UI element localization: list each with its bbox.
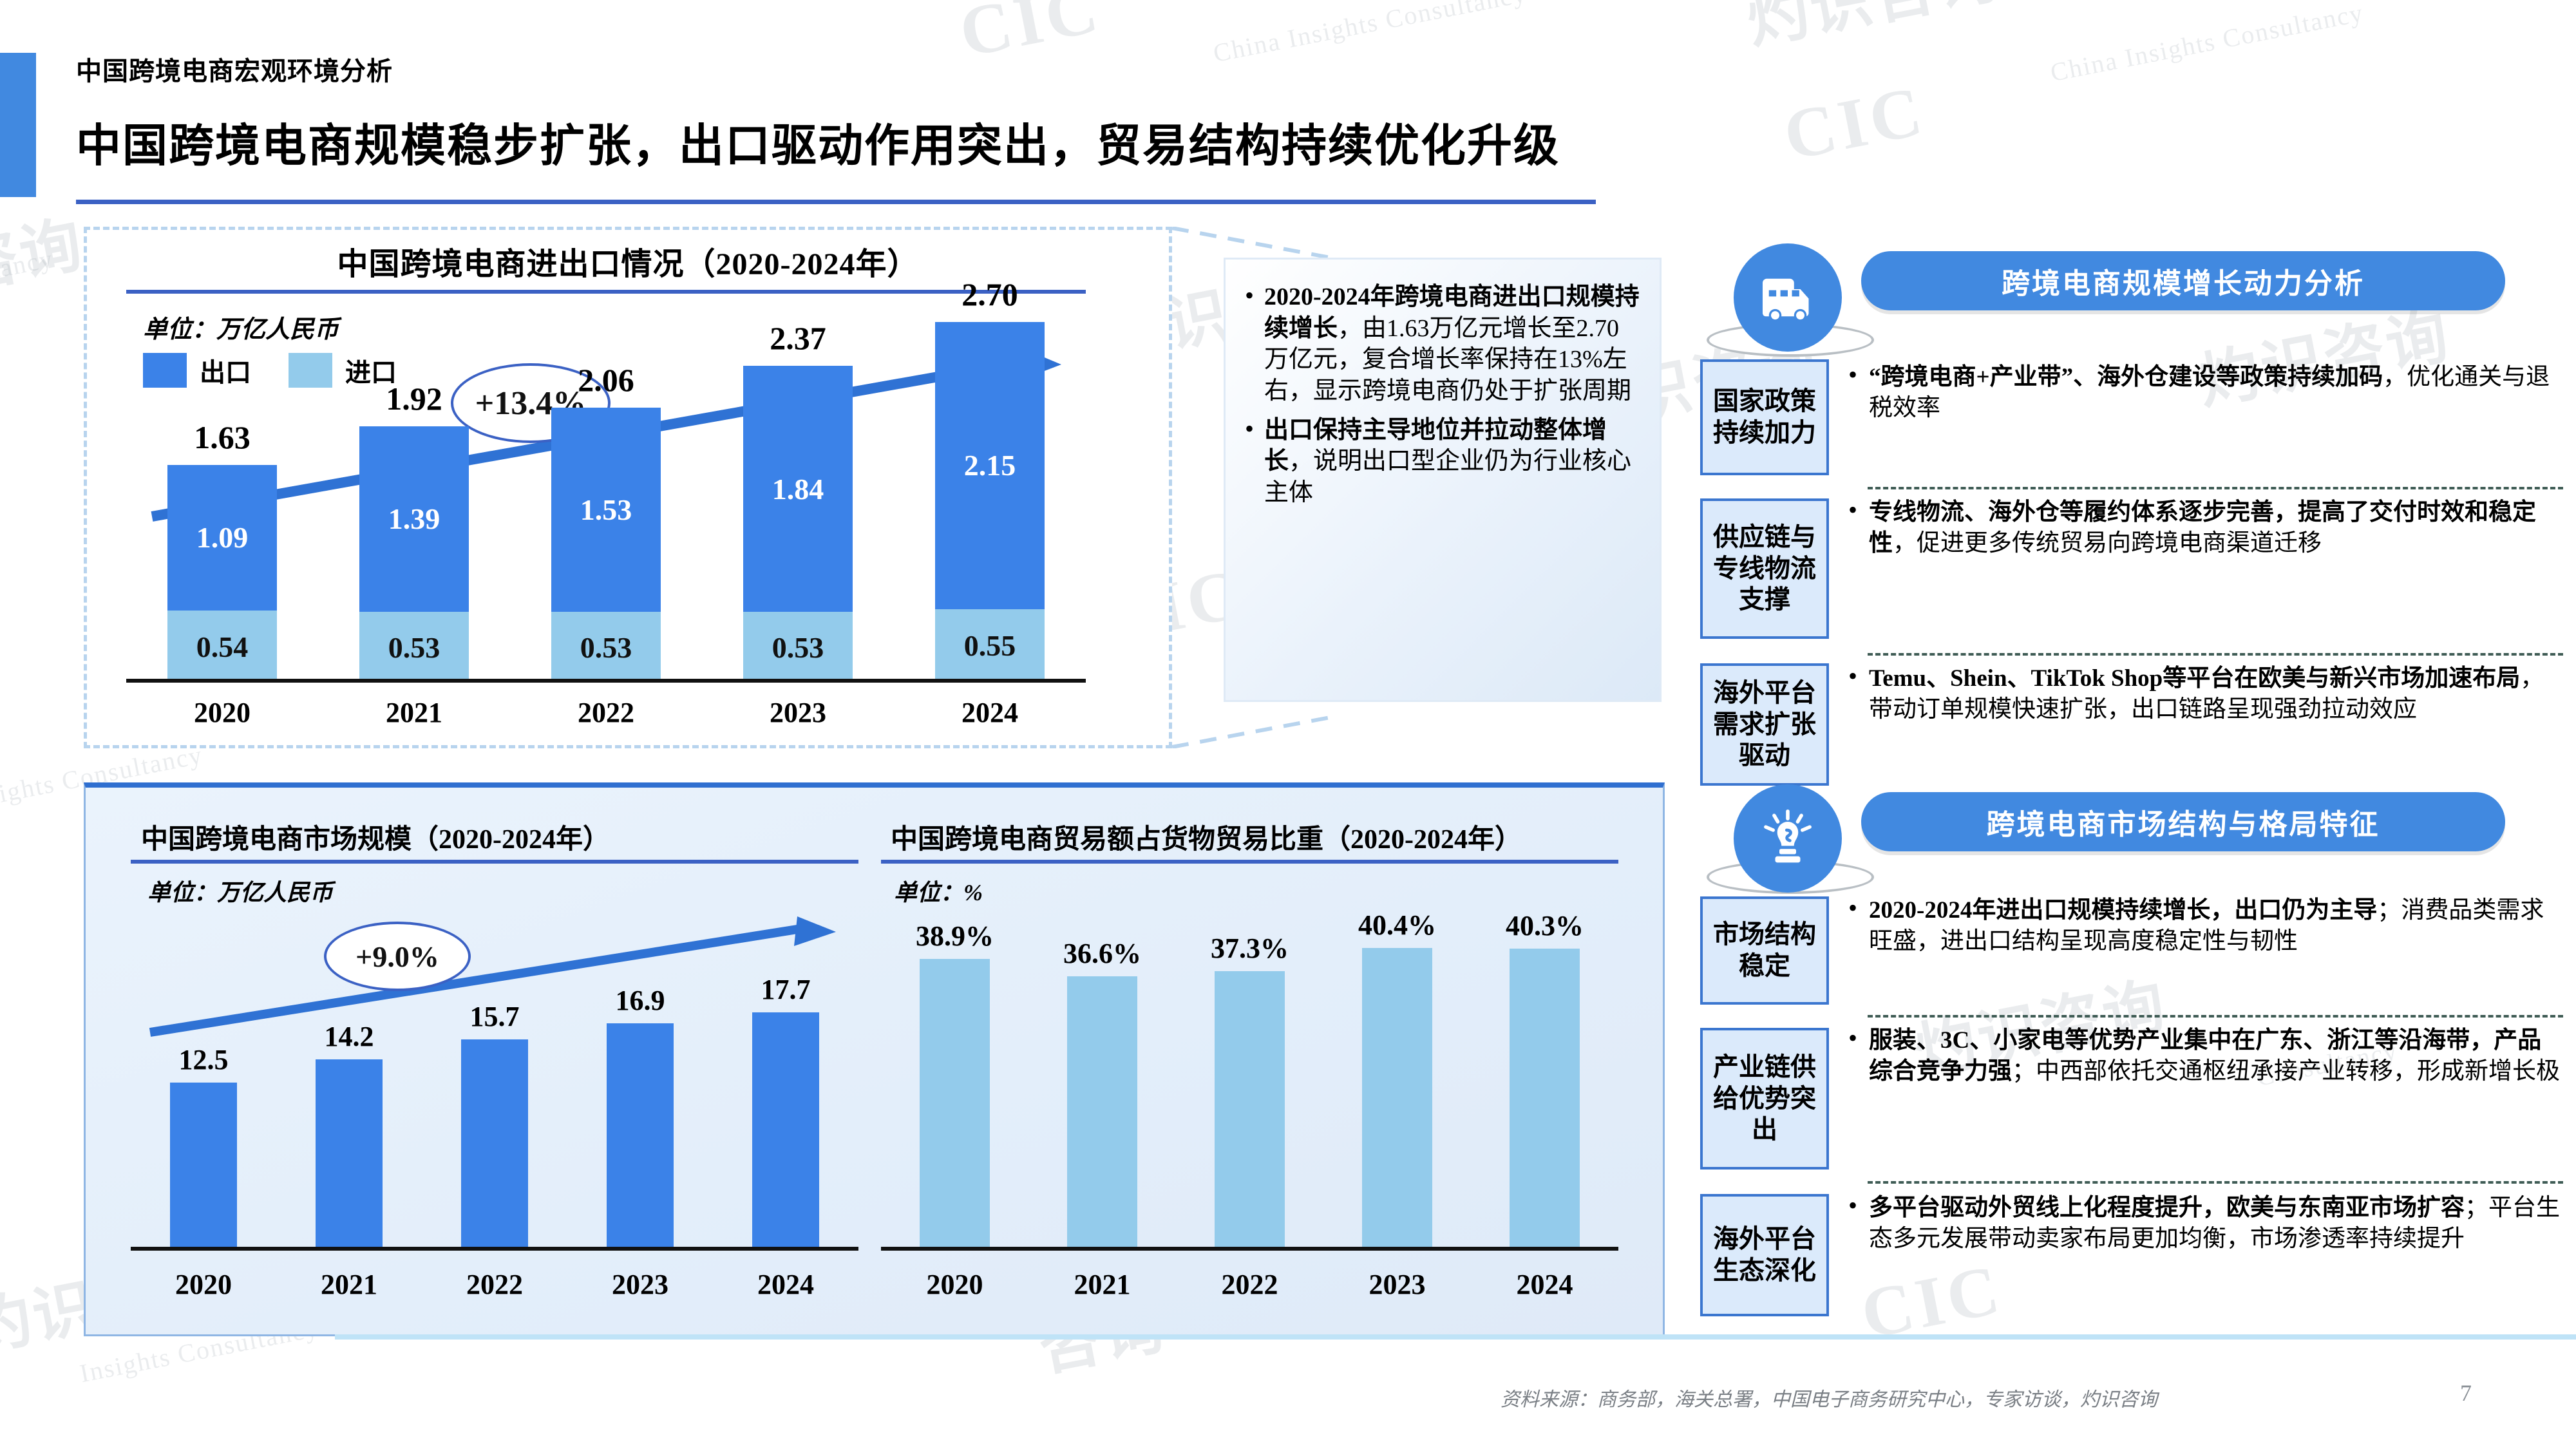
panel-banner-2: 跨境电商市场结构与格局特征 [1861, 792, 2505, 851]
watermark: China Insights Consultancy [1211, 0, 1529, 68]
bar [1215, 971, 1285, 1251]
bar-total-label: 2.06 [551, 361, 661, 399]
bar-segment-import: 0.53 [551, 612, 661, 683]
watermark: CIC [953, 0, 1108, 74]
cagr-label-2: +9.0% [355, 940, 439, 974]
tag-label: 市场结构稳定 [1703, 919, 1826, 982]
analysis-rest: ；中西部依托交通枢纽承接产业转移，形成新增长极 [2012, 1058, 2560, 1084]
x-tick-label: 2024 [1471, 1268, 1618, 1301]
bar-segment-import: 0.54 [167, 611, 277, 683]
chart-title: 中国跨境电商市场规模（2020-2024年） [141, 817, 610, 857]
x-tick-label: 2022 [422, 1268, 567, 1301]
bar-segment-export: 1.09 [167, 465, 277, 611]
insight-bullet: 2020-2024年跨境电商进出口规模持续增长，由1.63万亿元增长至2.70万… [1242, 281, 1643, 407]
chart-x-labels: 20202021202220232024 [881, 1268, 1618, 1301]
x-tick-label: 2022 [510, 696, 702, 729]
bar [607, 1023, 674, 1251]
analysis-text-3: Temu、Shein、TikTok Shop等平台在欧美与新兴市场加速布局，带动… [1869, 663, 2561, 725]
x-tick-label: 2021 [318, 696, 510, 729]
bar-segment-export: 1.39 [359, 426, 469, 612]
panel-banner-label: 跨境电商规模增长动力分析 [2002, 260, 2365, 301]
bar-segment-export: 2.15 [935, 322, 1045, 609]
analysis-text-2: 专线物流、海外仓等履约体系逐步完善，提高了交付时效和稳定性，促进更多传统贸易向跨… [1869, 497, 2561, 559]
tag-label: 供应链与专线物流支撑 [1703, 522, 1826, 616]
page-title: 中国跨境电商规模稳步扩张，出口驱动作用突出，贸易结构持续优化升级 [76, 109, 1560, 175]
x-tick-label: 2021 [276, 1268, 422, 1301]
breadcrumb: 中国跨境电商宏观环境分析 [76, 50, 393, 88]
x-tick-label: 2023 [567, 1268, 713, 1301]
insight-bullet-rest: ，说明出口型企业仍为行业核心主体 [1264, 448, 1631, 506]
cagr-badge-2: +9.0% [324, 922, 471, 991]
chart-x-labels: 20202021202220232024 [126, 696, 1086, 729]
watermark: China Insights Consultancy [2048, 0, 2366, 88]
x-tick-label: 2023 [1323, 1268, 1471, 1301]
tag-box-supplychain[interactable]: 供应链与专线物流支撑 [1700, 498, 1829, 639]
x-tick-label: 2021 [1028, 1268, 1176, 1301]
bar [752, 1012, 819, 1251]
x-tick-label: 2020 [126, 696, 318, 729]
insight-callout: 2020-2024年跨境电商进出口规模持续增长，由1.63万亿元增长至2.70万… [1224, 258, 1662, 702]
bar-total-label: 1.92 [359, 380, 469, 417]
bar-value-label: 36.6% [1050, 937, 1155, 970]
tag-label: 海外平台生态深化 [1703, 1224, 1826, 1287]
analysis-text-4: 2020-2024年进出口规模持续增长，出口仍为主导；消费品类需求旺盛，进出口结… [1869, 895, 2561, 957]
bar-total-label: 2.37 [743, 319, 853, 357]
bar-group: 1.090.54 [167, 465, 277, 683]
bar-total-label: 1.63 [167, 419, 277, 456]
bar-value-label: 15.7 [444, 1000, 545, 1033]
chart-unit-label: 单位：万亿人民币 [147, 874, 333, 907]
analysis-bold: “跨境电商+产业带”、海外仓建设等政策持续加码 [1869, 364, 2383, 390]
bottom-charts-panel: 中国跨境电商市场规模（2020-2024年） 单位：万亿人民币 +9.0% 12… [84, 782, 1665, 1336]
watermark: Consultancy [0, 243, 56, 300]
x-tick-label: 2022 [1176, 1268, 1323, 1301]
tag-label: 产业链供给优势突出 [1703, 1052, 1826, 1146]
analysis-bold: Temu、Shein、TikTok Shop等平台在欧美与新兴市场加速布局 [1869, 665, 2520, 692]
x-tick-label: 2024 [894, 696, 1086, 729]
bar-value-label: 40.3% [1493, 909, 1597, 942]
bar-segment-import: 0.53 [359, 612, 469, 683]
watermark: 咨询 [0, 194, 91, 305]
bar [920, 959, 990, 1251]
bar-value-label: 17.7 [735, 973, 836, 1006]
chart-unit-label: 单位：% [894, 874, 983, 907]
bar-segment-import: 0.53 [743, 612, 853, 683]
bar [1510, 949, 1580, 1251]
header-accent-bar [0, 53, 36, 197]
analysis-divider-1 [1868, 487, 2563, 489]
bar-segment-export: 1.84 [743, 366, 853, 612]
analysis-rest: ，促进更多传统贸易向跨境电商渠道迁移 [1893, 530, 2322, 556]
panel-banner-label: 跨境电商市场结构与格局特征 [1987, 801, 2380, 842]
bar-value-label: 16.9 [590, 984, 690, 1017]
analysis-text-6: 多平台驱动外贸线上化程度提升，欧美与东南亚市场扩容；平台生态多元发展带动卖家布局… [1869, 1193, 2561, 1255]
source-note: 资料来源：商务部，海关总署，中国电子商务研究中心，专家访谈，灼识咨询 [1501, 1383, 2157, 1412]
bar-value-label: 12.5 [153, 1043, 254, 1076]
analysis-bold: 2020-2024年进出口规模持续增长，出口仍为主导 [1869, 897, 2377, 923]
bar-total-label: 2.70 [935, 276, 1045, 313]
bar-group: 2.150.55 [935, 322, 1045, 683]
bar-value-label: 40.4% [1345, 909, 1450, 942]
bar-segment-export: 1.53 [551, 408, 661, 612]
bar-group: 1.840.53 [743, 366, 853, 683]
x-tick-label: 2020 [881, 1268, 1028, 1301]
chart-title: 中国跨境电商贸易额占货物贸易比重（2020-2024年） [891, 817, 1522, 857]
page-number: 7 [2460, 1379, 2472, 1406]
analysis-divider-2 [1868, 653, 2563, 656]
tag-label: 海外平台需求扩张驱动 [1703, 677, 1826, 772]
tag-box-platform-ecosystem[interactable]: 海外平台生态深化 [1700, 1194, 1829, 1316]
insight-bullet: 出口保持主导地位并拉动整体增长，说明出口型企业仍为行业核心主体 [1242, 415, 1643, 509]
analysis-text-1: “跨境电商+产业带”、海外仓建设等政策持续加码，优化通关与退税效率 [1869, 362, 2561, 424]
x-tick-label: 2024 [713, 1268, 858, 1301]
tag-label: 国家政策持续加力 [1703, 386, 1826, 449]
chart-x-labels: 20202021202220232024 [131, 1268, 858, 1301]
tag-box-policy[interactable]: 国家政策持续加力 [1700, 359, 1829, 475]
analysis-divider-4 [1868, 1181, 2563, 1184]
chart-x-axis [126, 679, 1086, 683]
x-tick-label: 2023 [702, 696, 894, 729]
title-divider [76, 200, 1596, 204]
analysis-bold: 多平台驱动外贸线上化程度提升，欧美与东南亚市场扩容 [1869, 1195, 2465, 1221]
chart-x-axis [131, 1247, 858, 1251]
chart-import-export: 中国跨境电商进出口情况（2020-2024年） 单位：万亿人民币 出口 进口 +… [84, 227, 1172, 748]
footer-divider [335, 1334, 2576, 1340]
insight-bullet-list: 2020-2024年跨境电商进出口规模持续增长，由1.63万亿元增长至2.70万… [1242, 281, 1643, 508]
x-tick-label: 2020 [131, 1268, 276, 1301]
chart-x-axis [881, 1247, 1618, 1251]
bar-value-label: 14.2 [299, 1020, 399, 1053]
bar [1362, 948, 1433, 1251]
bar-group: 1.530.53 [551, 408, 661, 683]
bar-value-label: 38.9% [903, 920, 1007, 952]
bar [170, 1083, 237, 1251]
tag-box-supply-advantage[interactable]: 产业链供给优势突出 [1700, 1028, 1829, 1170]
tag-box-market-structure[interactable]: 市场结构稳定 [1700, 896, 1829, 1005]
idea-icon [1734, 784, 1842, 893]
bar-group: 1.390.53 [359, 426, 469, 683]
bar [461, 1039, 528, 1251]
watermark: 灼识咨询 [1739, 0, 2006, 61]
bar-value-label: 37.3% [1198, 932, 1302, 965]
bar-segment-import: 0.55 [935, 609, 1045, 683]
analysis-text-5: 服装、3C、小家电等优势产业集中在广东、浙江等沿海带，产品综合竞争力强；中西部依… [1869, 1025, 2561, 1087]
bar [1067, 976, 1138, 1251]
analysis-divider-3 [1868, 1015, 2563, 1018]
bar [316, 1059, 383, 1251]
tag-box-platform[interactable]: 海外平台需求扩张驱动 [1700, 663, 1829, 786]
watermark: CIC [1777, 70, 1932, 177]
panel-banner-1: 跨境电商规模增长动力分析 [1861, 251, 2505, 310]
truck-icon [1734, 243, 1842, 352]
